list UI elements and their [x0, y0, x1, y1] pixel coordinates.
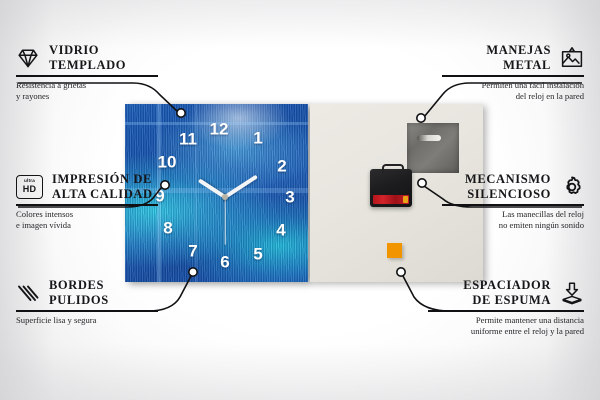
- callout-header: MECANISMO SILENCIOSO: [442, 172, 584, 201]
- callout-title: IMPRESIÓN DE ALTA CALIDAD: [52, 172, 153, 201]
- callout-description: Resistencia a grietas y rayones: [16, 80, 158, 103]
- callout-description: Las manecillas del reloj no emiten ningú…: [442, 209, 584, 232]
- callout-description: Superficie lisa y segura: [16, 315, 158, 327]
- callout-rule: [428, 310, 584, 312]
- clock-second-hand: [224, 197, 225, 245]
- callout-rule: [16, 75, 158, 77]
- clock-numeral-3: 3: [285, 189, 294, 206]
- foam-spacer: [387, 243, 402, 258]
- diamond-icon: [16, 46, 40, 70]
- clock-numeral-2: 2: [277, 158, 286, 175]
- callout-title: MECANISMO SILENCIOSO: [465, 172, 551, 201]
- clock-numeral-7: 7: [188, 243, 197, 260]
- callout-title: VIDRIO TEMPLADO: [49, 43, 126, 72]
- callout-header: VIDRIO TEMPLADO: [16, 43, 158, 72]
- callout-header: MANEJAS METAL: [442, 43, 584, 72]
- gear-icon: [560, 175, 584, 199]
- callout-title: BORDES PULIDOS: [49, 278, 109, 307]
- clock-numeral-5: 5: [253, 246, 262, 263]
- clock-numeral-10: 10: [158, 154, 177, 171]
- foam-spacer-icon: [560, 281, 584, 305]
- callout-impresion-alta-calidad: ultra HD IMPRESIÓN DE ALTA CALIDAD Color…: [16, 172, 158, 232]
- clock-center-cap: [222, 194, 228, 200]
- clock-numeral-1: 1: [253, 130, 262, 147]
- clock-numeral-6: 6: [220, 254, 229, 271]
- callout-rule: [16, 310, 158, 312]
- metal-hanger-plate: [407, 123, 459, 173]
- callout-description: Permite mantener una distancia uniforme …: [428, 315, 584, 338]
- callout-vidrio-templado: VIDRIO TEMPLADO Resistencia a grietas y …: [16, 43, 158, 103]
- callout-espaciador-espuma: ESPACIADOR DE ESPUMA Permite mantener un…: [428, 278, 584, 338]
- callout-header: BORDES PULIDOS: [16, 278, 158, 307]
- product-photo: 12 1 2 3 4 5 6 7 8 9 10 11: [125, 104, 483, 282]
- callout-title: MANEJAS METAL: [486, 43, 551, 72]
- callout-manejas-metal: MANEJAS METAL Permiten una fácil instala…: [442, 43, 584, 103]
- infographic-canvas: 12 1 2 3 4 5 6 7 8 9 10 11: [0, 0, 600, 400]
- clock-numeral-12: 12: [210, 121, 229, 138]
- callout-rule: [442, 75, 584, 77]
- callout-header: ultra HD IMPRESIÓN DE ALTA CALIDAD: [16, 172, 158, 201]
- callout-bordes-pulidos: BORDES PULIDOS Superficie lisa y segura: [16, 278, 158, 326]
- callout-description: Permiten una fácil instalación del reloj…: [442, 80, 584, 103]
- callout-rule: [16, 204, 158, 206]
- aa-battery: [373, 195, 409, 204]
- battery-tip: [403, 196, 408, 203]
- polished-edges-icon: [16, 281, 40, 305]
- ultra-hd-icon: ultra HD: [16, 175, 43, 199]
- picture-hanger-icon: [560, 46, 584, 70]
- hanger-slot: [417, 135, 441, 141]
- callout-header: ESPACIADOR DE ESPUMA: [428, 278, 584, 307]
- clock-numeral-8: 8: [163, 220, 172, 237]
- movement-hanger-tab: [382, 164, 404, 173]
- quartz-movement-box: [370, 169, 412, 207]
- callout-mecanismo-silencioso: MECANISMO SILENCIOSO Las manecillas del …: [442, 172, 584, 232]
- clock-numeral-4: 4: [276, 222, 285, 239]
- clock-numeral-11: 11: [179, 131, 197, 148]
- callout-rule: [442, 204, 584, 206]
- callout-description: Colores intensos e imagen vívida: [16, 209, 158, 232]
- callout-title: ESPACIADOR DE ESPUMA: [463, 278, 551, 307]
